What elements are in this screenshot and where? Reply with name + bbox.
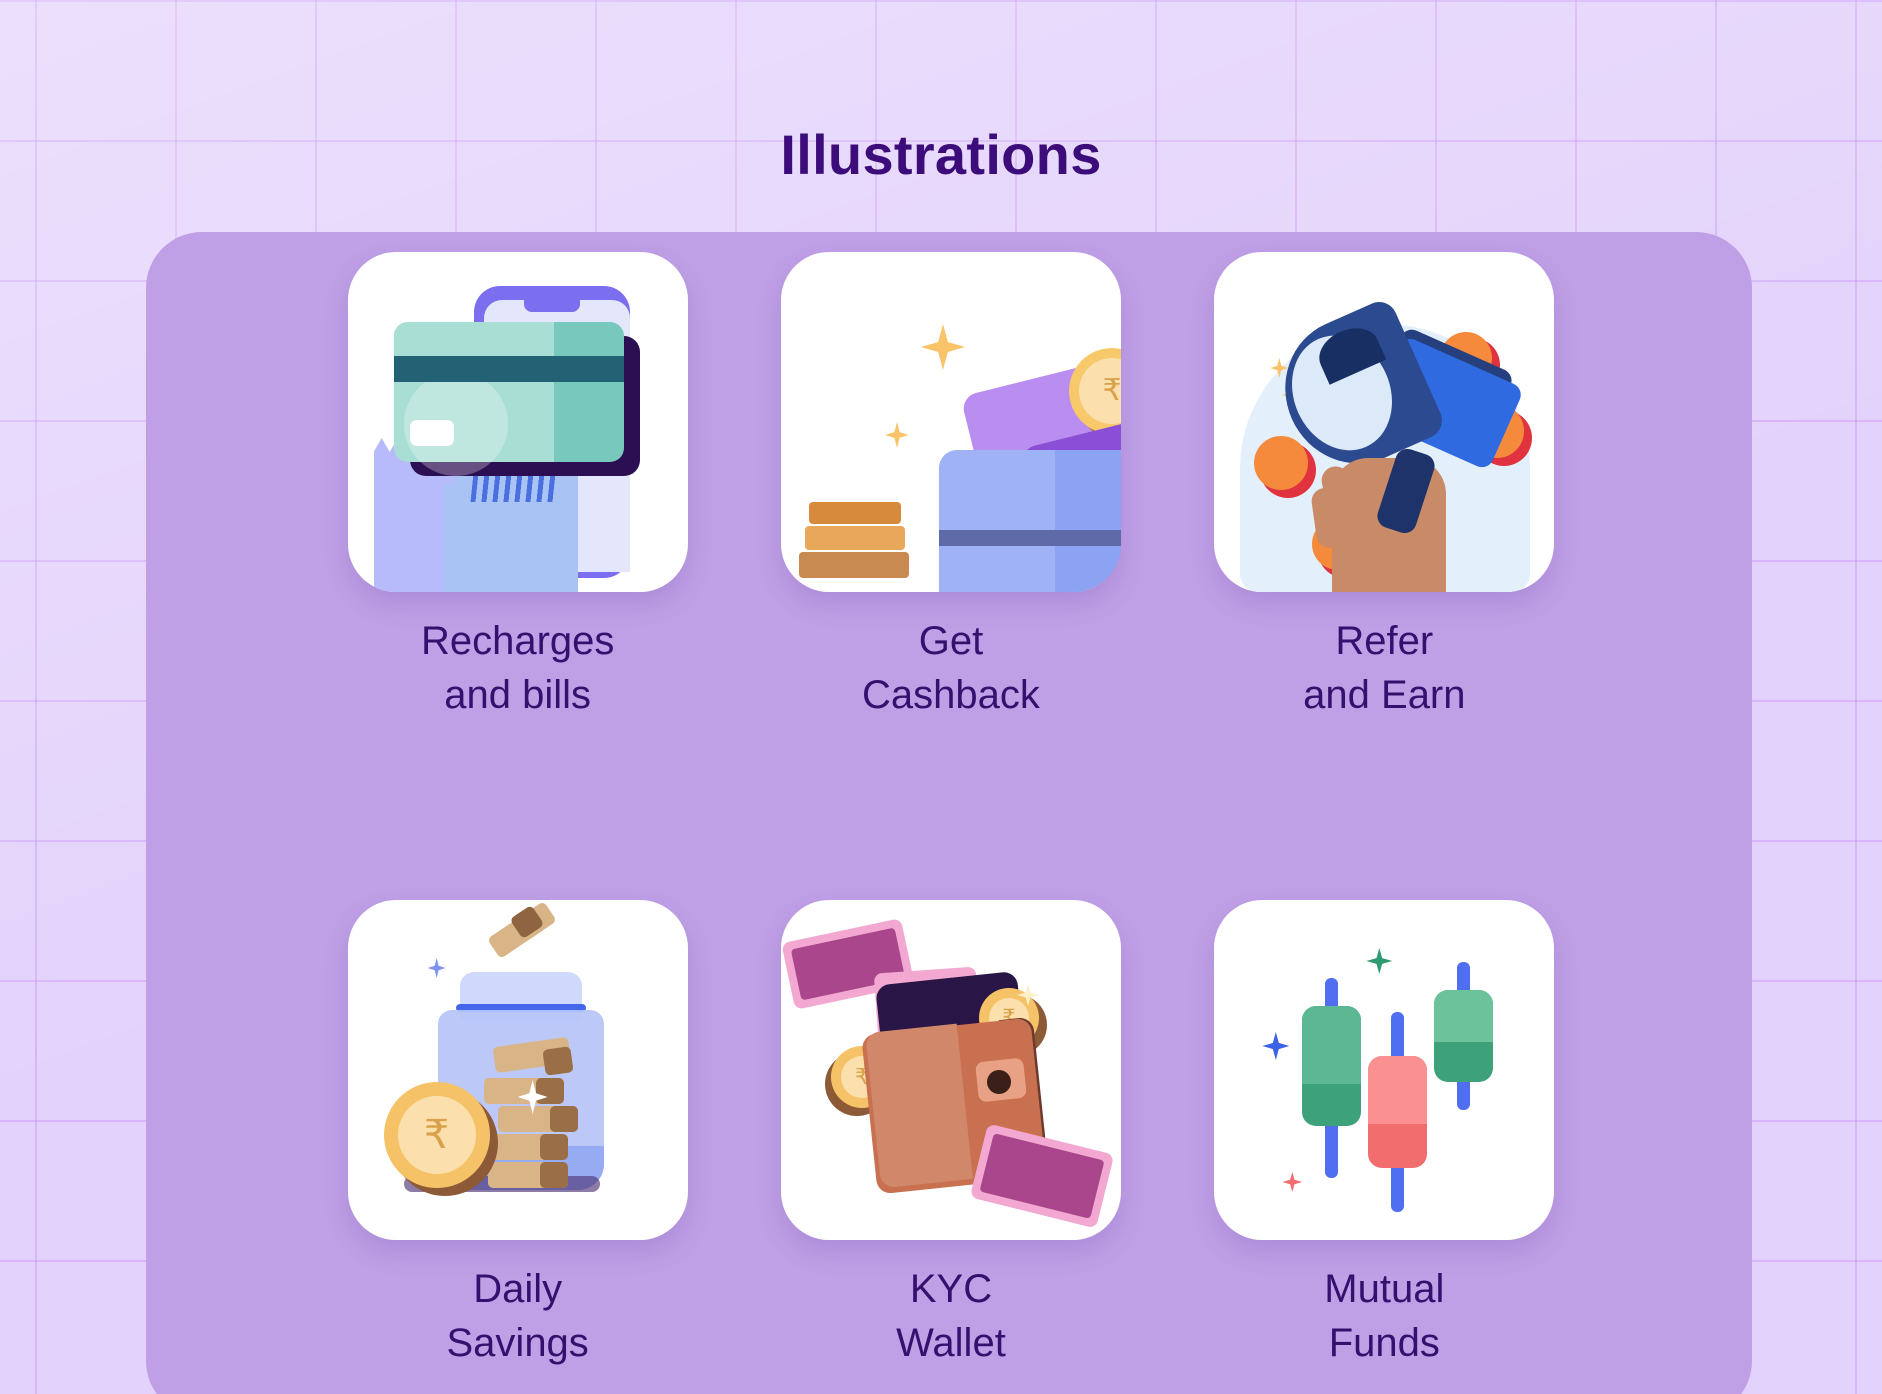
- blue-card-stripe: [939, 530, 1121, 546]
- barcode-icon: [470, 472, 559, 502]
- candlestick-body-highlight: [1434, 990, 1493, 1042]
- illustration-label: Get Cashback: [781, 614, 1121, 722]
- refer-and-earn-icon: [1214, 252, 1554, 592]
- credit-card-chip: [410, 420, 454, 446]
- rupee-note-inner: [979, 1133, 1104, 1219]
- credit-card-stripe: [394, 356, 624, 382]
- illustration-tile-recharges-and-bills[interactable]: Recharges and bills: [348, 252, 688, 722]
- illustration-label: Mutual Funds: [1214, 1262, 1554, 1370]
- illustration-card[interactable]: [1214, 252, 1554, 592]
- kyc-wallet-icon: ₹ ₹: [781, 900, 1121, 1240]
- sparkle-icon: [921, 324, 965, 370]
- candlestick-body-highlight: [1368, 1056, 1427, 1124]
- wallet-highlight: [865, 1024, 973, 1189]
- coin-stack-item-shade: [542, 1046, 573, 1076]
- recharges-and-bills-icon: [348, 252, 688, 592]
- illustrations-panel: Recharges and bills ₹: [146, 232, 1752, 1394]
- sparkle-icon: [428, 958, 446, 978]
- get-cashback-icon: ₹: [781, 252, 1121, 592]
- coin-stack-middle: [805, 526, 905, 550]
- coin-stack-item-shade: [550, 1106, 578, 1132]
- wallet-button-shape: [987, 1070, 1011, 1094]
- sparkle-icon: [1282, 1172, 1302, 1192]
- blue-card-shade: [1055, 450, 1121, 592]
- illustration-tile-mutual-funds[interactable]: Mutual Funds: [1214, 900, 1554, 1370]
- illustration-label: Recharges and bills: [348, 614, 688, 722]
- phone-notch-shape: [524, 300, 580, 312]
- illustration-card[interactable]: ₹ ₹: [781, 900, 1121, 1240]
- illustration-card[interactable]: [348, 252, 688, 592]
- sparkle-icon: [1262, 1032, 1289, 1060]
- coin-shape: [1254, 436, 1308, 490]
- sparkle-icon: [885, 422, 909, 448]
- illustration-card[interactable]: ₹: [348, 900, 688, 1240]
- illustration-label: KYC Wallet: [781, 1262, 1121, 1370]
- illustration-label: Refer and Earn: [1214, 614, 1554, 722]
- illustration-tile-get-cashback[interactable]: ₹ Get Cashback: [781, 252, 1121, 722]
- coin-stack-top: [809, 502, 901, 524]
- rupee-symbol: ₹: [398, 1096, 476, 1174]
- coin-stack-item-shade: [540, 1134, 568, 1160]
- mutual-funds-icon: [1214, 900, 1554, 1240]
- illustration-card[interactable]: [1214, 900, 1554, 1240]
- page-title: Illustrations: [0, 122, 1882, 187]
- coin-stack-item-shade: [540, 1162, 568, 1188]
- daily-savings-icon: ₹: [348, 900, 688, 1240]
- illustration-tile-refer-and-earn[interactable]: Refer and Earn: [1214, 252, 1554, 722]
- illustration-grid: Recharges and bills ₹: [346, 252, 1556, 1370]
- sparkle-icon: [1366, 948, 1392, 974]
- illustration-tile-daily-savings[interactable]: ₹ Daily Savings: [348, 900, 688, 1370]
- illustration-label: Daily Savings: [348, 1262, 688, 1370]
- illustration-tile-kyc-wallet[interactable]: ₹ ₹ KYC Wallet: [781, 900, 1121, 1370]
- illustration-card[interactable]: ₹: [781, 252, 1121, 592]
- candlestick-body-highlight: [1302, 1006, 1361, 1084]
- coin-stack-bottom: [799, 552, 909, 578]
- coin-stack-item-shade: [536, 1078, 564, 1104]
